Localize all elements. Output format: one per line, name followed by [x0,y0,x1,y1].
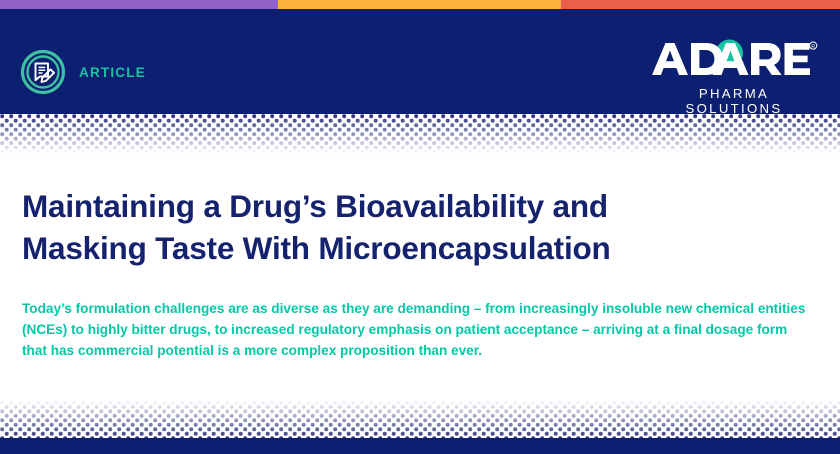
footer-band [0,438,840,454]
article-banner: ARTICLE [0,0,840,454]
adare-logo-tagline: PHARMA SOLUTIONS [650,86,818,116]
halftone-pattern-bottom [0,400,840,440]
registered-trademark-icon: R [810,42,817,50]
accent-segment-purple [0,0,278,9]
page-title: Maintaining a Drug’s Bioavailability and… [22,186,722,270]
halftone-pattern-top [0,114,840,154]
accent-color-bar [0,0,840,9]
svg-text:R: R [811,44,815,50]
adare-logo: R PHARMA SOLUTIONS [650,37,818,116]
article-badge: ARTICLE [20,49,146,95]
page-subcopy: Today’s formulation challenges are as di… [22,298,812,361]
content-area: Maintaining a Drug’s Bioavailability and… [0,160,840,361]
article-document-pencil-icon [20,49,66,95]
header-bar: ARTICLE [0,9,840,114]
accent-segment-orange [278,0,561,9]
article-badge-label: ARTICLE [79,65,146,80]
accent-segment-red [561,0,840,9]
